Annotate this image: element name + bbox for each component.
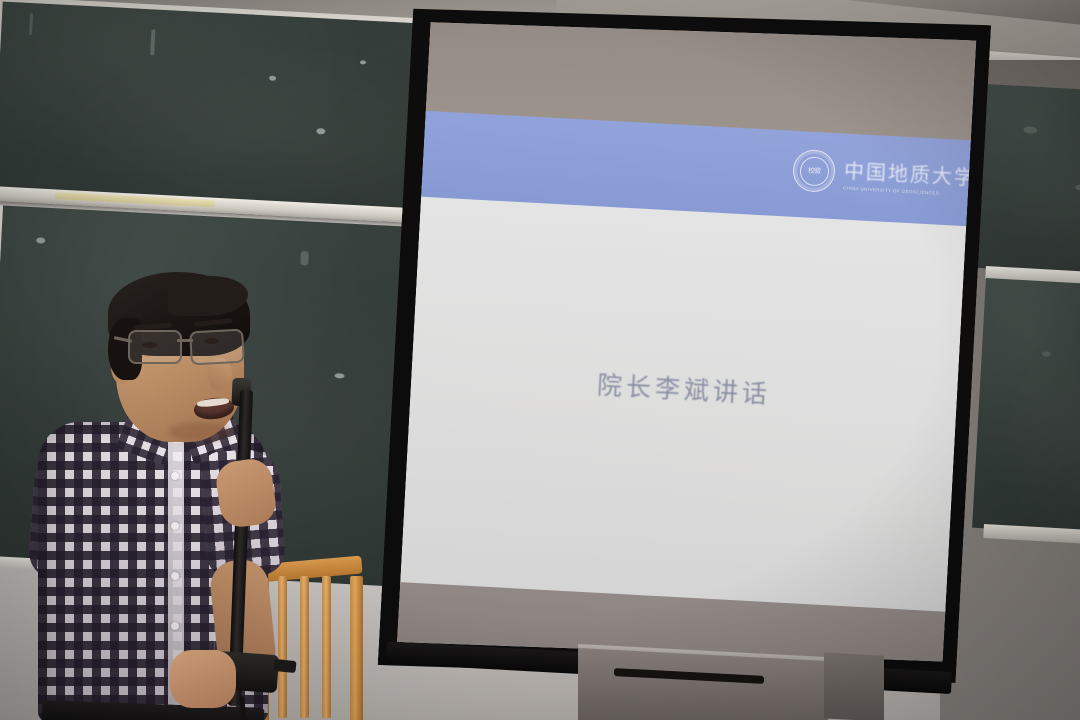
shirt-button: [171, 522, 179, 530]
hand-holding-transmitter: [170, 650, 236, 708]
university-name-cn: 中国地质大学: [843, 155, 976, 191]
speaker-presenter: [18, 272, 318, 720]
chin-shadow: [168, 422, 232, 442]
shirt-button: [171, 622, 179, 630]
shirt-button: [171, 472, 179, 480]
lens-right: [189, 329, 245, 366]
glasses-bridge: [177, 339, 193, 342]
eye-right: [204, 338, 219, 344]
lecture-hall-photo: 校徽 中国地质大学 CHINA UNIVERSITY OF GEOSCIENCE…: [0, 0, 1080, 720]
chair-slat: [322, 576, 331, 718]
lectern-side-panel: [824, 652, 884, 720]
transmitter-connector: [273, 659, 296, 673]
blackboard-right-upper: [976, 84, 1080, 277]
eye-left: [142, 342, 157, 348]
university-seal-inner: 校徽: [799, 156, 830, 187]
blackboard-right-lower: [972, 278, 1080, 537]
pull-down-projection-screen[interactable]: 校徽 中国地质大学 CHINA UNIVERSITY OF GEOSCIENCE…: [377, 0, 991, 714]
chair-post-right: [350, 576, 363, 720]
lectern-cabinet: [578, 648, 828, 720]
projected-slide: 校徽 中国地质大学 CHINA UNIVERSITY OF GEOSCIENCE…: [397, 11, 976, 672]
shirt-button: [171, 572, 179, 580]
university-seal-icon: 校徽: [792, 149, 836, 193]
